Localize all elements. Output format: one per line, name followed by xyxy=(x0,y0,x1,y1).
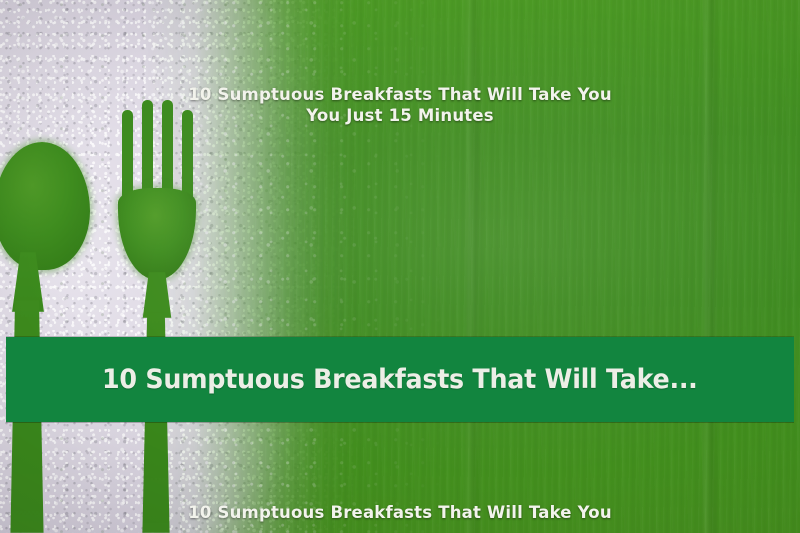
title-banner: 10 Sumptuous Breakfasts That Will Take..… xyxy=(6,337,794,422)
vignette-overlay xyxy=(0,0,800,533)
screenshot-canvas: 10 Sumptuous Breakfasts That Will Take Y… xyxy=(0,0,800,533)
banner-title-text: 10 Sumptuous Breakfasts That Will Take..… xyxy=(102,364,698,395)
